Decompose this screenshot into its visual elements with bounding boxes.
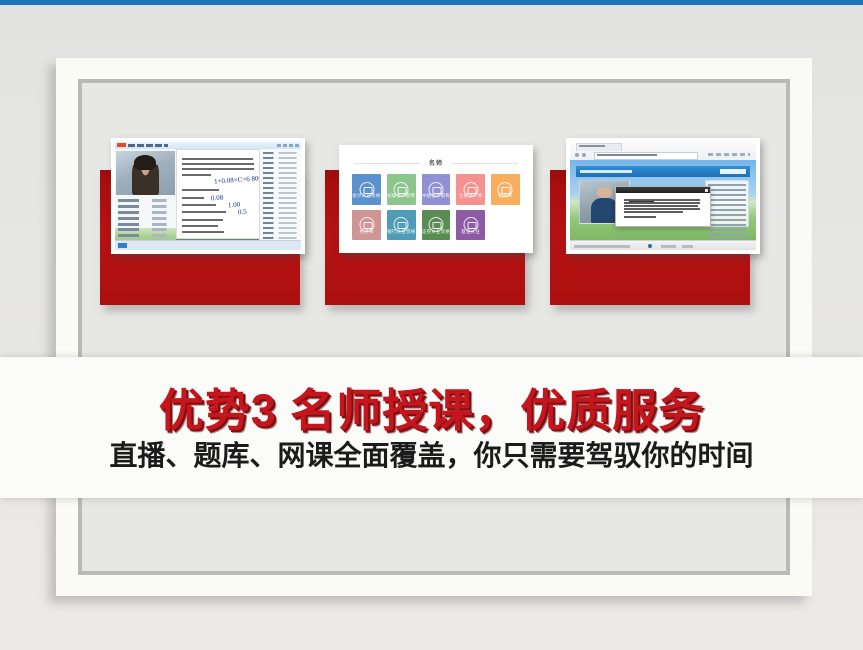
section-header: 名师 xyxy=(343,158,529,168)
headline-banner: 优势3 名师授课，优质服务 直播、题库、网课全面覆盖，你只需要驾驭你的时间 xyxy=(0,357,863,498)
board-text-line xyxy=(182,231,224,233)
player-title-text xyxy=(580,170,632,173)
chapter-item xyxy=(708,229,745,231)
board-text-line xyxy=(182,158,252,160)
chat-message xyxy=(263,162,298,164)
fullscreen-button[interactable] xyxy=(720,169,746,174)
whiteboard[interactable]: 1+0.08×C=6 800 0.08 1.00 0.5 xyxy=(176,149,262,239)
chat-message xyxy=(263,217,298,219)
headline-title: 优势3 名师授课，优质服务 xyxy=(0,374,863,439)
course-card-label: 会计从业资格证 xyxy=(352,193,381,199)
chapter-item xyxy=(708,224,745,226)
dialog-text-line xyxy=(624,211,683,213)
chat-message xyxy=(263,152,298,154)
close-icon[interactable] xyxy=(705,189,708,192)
chat-message xyxy=(263,167,298,169)
board-text-line xyxy=(182,189,219,191)
course-card[interactable]: 中级会计职称 xyxy=(422,174,451,205)
chapter-item xyxy=(708,184,745,186)
chat-message xyxy=(263,197,298,199)
course-card-label: 基金从业 xyxy=(456,229,485,235)
list-item xyxy=(118,217,173,220)
course-card-label: 初级会计职称 xyxy=(387,193,416,199)
section-label: 名师 xyxy=(429,158,443,167)
board-text-line xyxy=(182,225,217,227)
participants-column xyxy=(115,149,176,250)
chapter-item xyxy=(708,194,745,196)
progress-track[interactable] xyxy=(661,245,676,248)
course-card-label: 中级会计职称 xyxy=(422,193,451,199)
handwritten-annotation: 1+0.08×C=6 800 xyxy=(214,175,262,186)
board-text-line xyxy=(182,219,222,221)
board-text-line xyxy=(182,163,254,165)
course-grid-screenshot[interactable]: 名师 会计从业资格证 初级会计职称 xyxy=(339,145,533,253)
chapter-item xyxy=(708,189,745,191)
board-text-line xyxy=(182,168,253,170)
chapter-item xyxy=(708,219,745,221)
window-controls[interactable] xyxy=(277,144,299,147)
course-card-label: 银行从业资格 xyxy=(387,229,416,235)
course-card[interactable]: 税务师 xyxy=(491,174,520,205)
divider-left xyxy=(354,163,421,164)
player-titlebar xyxy=(576,166,751,177)
video-lecture-screenshot[interactable] xyxy=(566,138,760,254)
course-card-label: 注册会计师 xyxy=(456,193,485,199)
dialog-text-line xyxy=(624,216,656,218)
course-card[interactable]: 证券从业资格 xyxy=(422,210,451,241)
app-logo-icon xyxy=(117,143,126,147)
chat-message xyxy=(263,212,298,214)
list-item xyxy=(118,211,173,214)
teacher-video-tile[interactable] xyxy=(116,151,175,195)
chat-message xyxy=(263,237,298,239)
chapter-item xyxy=(708,234,745,236)
chat-message xyxy=(263,177,298,179)
exhibit-video-lecture[interactable] xyxy=(550,138,762,313)
board-text-line xyxy=(182,204,215,206)
chat-message xyxy=(263,207,298,209)
exhibit-course-grid[interactable]: 名师 会计从业资格证 初级会计职称 xyxy=(325,138,535,313)
course-card[interactable]: 银行从业资格 xyxy=(387,210,416,241)
exhibit-live-class[interactable]: 1+0.08×C=6 800 0.08 1.00 0.5 xyxy=(100,138,305,313)
course-card[interactable]: 初级会计职称 xyxy=(387,174,416,205)
address-bar-text xyxy=(597,154,657,156)
slide-canvas: 1+0.08×C=6 800 0.08 1.00 0.5 xyxy=(0,0,863,650)
top-accent-rule xyxy=(0,0,863,5)
dialog-text-line xyxy=(624,199,700,201)
chat-message xyxy=(263,182,298,184)
chat-message xyxy=(263,222,298,224)
player-statusbar[interactable] xyxy=(570,240,756,250)
broadcast-status-icon[interactable] xyxy=(118,243,127,248)
course-card-label: 税务师 xyxy=(491,193,520,199)
list-item xyxy=(118,199,173,202)
chat-message xyxy=(263,157,298,159)
course-card-grid[interactable]: 会计从业资格证 初级会计职称 中级会计职称 注册会计师 xyxy=(352,174,519,240)
list-item xyxy=(118,205,173,208)
browser-window xyxy=(570,142,756,250)
chat-panel[interactable] xyxy=(259,149,301,250)
chapter-item xyxy=(708,199,745,201)
chapter-list[interactable] xyxy=(705,180,748,227)
courseware-dialog[interactable] xyxy=(615,186,712,227)
chat-message xyxy=(263,232,298,234)
statusbar-text xyxy=(574,245,630,248)
app-statusbar xyxy=(115,240,301,250)
toolbar-icons[interactable] xyxy=(708,153,750,156)
chat-message xyxy=(263,192,298,194)
chat-message xyxy=(263,172,298,174)
board-text-line xyxy=(182,197,204,199)
dialog-text-line xyxy=(624,208,700,210)
list-item xyxy=(118,223,173,226)
forward-icon[interactable] xyxy=(582,153,586,157)
handwritten-annotation: 0.08 xyxy=(211,194,224,203)
board-text-line xyxy=(182,174,210,176)
chat-message xyxy=(263,202,298,204)
course-card[interactable]: 会计从业资格证 xyxy=(352,174,381,205)
dialog-text-line xyxy=(624,202,700,204)
course-card[interactable]: 基金从业 xyxy=(456,210,485,241)
lecturer-head xyxy=(597,187,612,198)
course-card-label: 证券从业资格 xyxy=(422,229,451,235)
course-card[interactable]: 经济师 xyxy=(352,210,381,241)
chat-message xyxy=(263,227,298,229)
headline-subtitle: 直播、题库、网课全面覆盖，你只需要驾驭你的时间 xyxy=(0,434,863,474)
handwritten-annotation: 0.5 xyxy=(237,208,246,217)
play-icon[interactable] xyxy=(648,244,652,248)
board-text-line xyxy=(182,211,226,213)
browser-tab-title xyxy=(579,145,605,147)
course-page: 名师 会计从业资格证 初级会计职称 xyxy=(343,149,529,249)
app-title-text xyxy=(128,144,168,147)
volume-control[interactable] xyxy=(682,245,693,248)
back-icon[interactable] xyxy=(575,153,579,157)
chapter-item xyxy=(708,214,745,216)
chapter-item xyxy=(708,209,745,211)
divider-right xyxy=(451,163,518,164)
chapter-item xyxy=(708,204,745,206)
chat-message xyxy=(263,187,298,189)
course-card-label: 经济师 xyxy=(352,229,381,235)
lecture-stage xyxy=(570,160,756,241)
course-card[interactable]: 注册会计师 xyxy=(456,174,485,205)
list-item xyxy=(118,228,173,231)
list-item xyxy=(118,234,173,237)
dialog-text-line xyxy=(624,205,698,207)
teacher-hair xyxy=(134,155,156,170)
live-class-screenshot[interactable]: 1+0.08×C=6 800 0.08 1.00 0.5 xyxy=(111,138,305,254)
dialog-titlebar xyxy=(616,187,711,193)
browser-chrome xyxy=(570,142,756,161)
